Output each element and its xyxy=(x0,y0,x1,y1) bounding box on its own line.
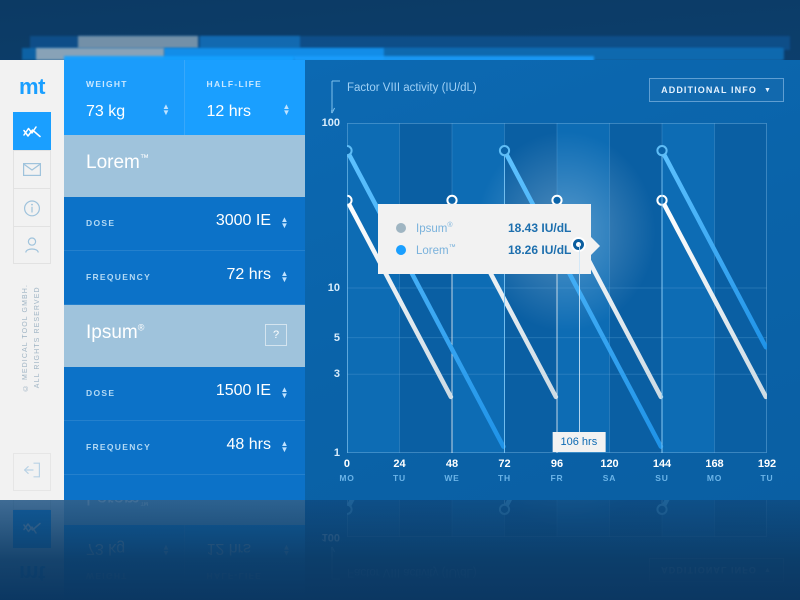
plot-canvas: 10010531 xyxy=(347,500,767,537)
drug-header-lorem[interactable]: Lorem™ xyxy=(64,135,305,197)
y-axis-label: 100 xyxy=(322,531,340,543)
chart-area: Factor VIII activity (IU/dL) ADDITIONAL … xyxy=(305,60,800,500)
x-tick-day: TH xyxy=(498,473,511,483)
x-tick-hours: 96 xyxy=(551,458,564,470)
lorem-dose-stepper[interactable]: ▲▼ xyxy=(280,217,289,230)
lorem-frequency-stepper[interactable]: ▲▼ xyxy=(280,271,289,284)
ipsum-frequency-field[interactable]: FREQUENCY 48 hrs ▲▼ xyxy=(64,421,305,475)
info-icon xyxy=(23,199,41,217)
x-tick-hours: 168 xyxy=(705,458,723,470)
x-tick-day: TU xyxy=(758,473,776,483)
x-tick-day: TU xyxy=(393,473,406,483)
half-life-value: 12 hrs xyxy=(207,103,251,121)
half-life-field[interactable]: HALF-LIFE 12 hrs ▲▼ xyxy=(185,60,306,135)
x-axis-tick: 24TU xyxy=(393,458,406,483)
window-reflection: mt xyxy=(0,500,800,600)
x-axis-tick: 192TU xyxy=(758,458,776,483)
additional-info-button[interactable]: ADDITIONAL INFO ▼ xyxy=(649,78,784,102)
x-axis-ticks: 0MO24TU48WE72TH96FR120SA144SU168MO192TU xyxy=(347,458,767,500)
drug-trademark: ™ xyxy=(140,500,149,507)
dosing-panel: WEIGHT 73 kg ▲▼ HALF-LIFE 12 hrs ▲▼ Lore… xyxy=(64,60,305,500)
tooltip-name-text: Ipsum xyxy=(416,223,447,235)
decor-band xyxy=(164,48,384,60)
y-axis-label: 10 xyxy=(328,282,340,294)
x-tick-day: SA xyxy=(600,473,618,483)
chart-title: Factor VIII activity (IU/dL) xyxy=(347,566,477,578)
drug-name-ipsum: Ipsum® xyxy=(86,322,144,344)
drug-name-lorem: Lorem™ xyxy=(86,500,149,508)
ipsum-frequency-label: FREQUENCY xyxy=(86,442,151,452)
weight-value: 73 kg xyxy=(86,103,125,121)
sidebar-item-messages xyxy=(13,500,51,510)
reflection-fade xyxy=(0,500,800,600)
ipsum-dose-field[interactable]: DOSE 1500 IE ▲▼ xyxy=(64,367,305,421)
app-window: mt xyxy=(0,60,800,500)
sidebar-item-messages[interactable] xyxy=(13,150,51,188)
patient-params-row: WEIGHT 73 kg ▲▼ HALF-LIFE 12 hrs ▲▼ xyxy=(64,60,305,135)
app-logo: mt xyxy=(0,560,64,586)
decor-band xyxy=(36,48,164,60)
chart-tooltip: Ipsum® 18.43 IU/dL Lorem™ 18.26 IU/dL xyxy=(378,204,591,274)
additional-info-label: ADDITIONAL INFO xyxy=(661,85,757,95)
ipsum-frequency-stepper[interactable]: ▲▼ xyxy=(280,441,289,454)
cursor-vertical-line xyxy=(579,244,580,432)
tooltip-value-lorem: 18.26 IU/dL xyxy=(508,243,571,257)
axis-arrow-icon xyxy=(331,546,345,580)
chart-title: Factor VIII activity (IU/dL) xyxy=(347,82,477,94)
decor-band xyxy=(200,36,300,50)
x-tick-day: MO xyxy=(705,473,723,483)
weight-value: 73 kg xyxy=(86,539,125,557)
dosing-panel: WEIGHT 73 kg ▲▼ HALF-LIFE 12 hrs ▲▼ Lore… xyxy=(64,500,305,600)
y-axis-label: 100 xyxy=(322,117,340,129)
tooltip-mark: ® xyxy=(447,222,452,229)
help-button[interactable]: ? xyxy=(265,324,287,346)
weight-label: WEIGHT xyxy=(86,79,128,89)
tooltip-series-name-lorem: Lorem™ xyxy=(416,244,498,257)
x-axis-tick: 72TH xyxy=(498,458,511,483)
drug-name-text: Lorem xyxy=(86,500,140,508)
drug-trademark: ™ xyxy=(140,153,149,163)
x-tick-hours: 144 xyxy=(653,458,671,470)
app-window: mt xyxy=(0,500,800,600)
cursor-time-badge: 106 hrs xyxy=(553,432,606,452)
tooltip-mark: ™ xyxy=(449,244,456,251)
ipsum-dose-value: 1500 IE xyxy=(216,382,271,400)
x-tick-day: WE xyxy=(444,473,459,483)
tooltip-row: Lorem™ 18.26 IU/dL xyxy=(396,239,571,261)
drug-name-text: Lorem xyxy=(86,152,140,173)
x-tick-hours: 120 xyxy=(600,458,618,470)
drug-header-ipsum[interactable]: Ipsum® ? xyxy=(64,305,305,367)
x-tick-hours: 192 xyxy=(758,458,776,470)
plot-canvas[interactable]: 10010531 xyxy=(347,123,767,453)
weight-field[interactable]: WEIGHT 73 kg ▲▼ xyxy=(64,60,185,135)
chevron-down-icon: ▼ xyxy=(764,567,772,574)
decor-band xyxy=(78,36,198,50)
decor-band xyxy=(22,48,782,60)
x-tick-hours: 48 xyxy=(444,458,459,470)
half-life-stepper[interactable]: ▲▼ xyxy=(282,104,291,117)
x-tick-hours: 0 xyxy=(339,458,354,470)
half-life-label: HALF-LIFE xyxy=(207,571,263,581)
patient-params-row: WEIGHT 73 kg ▲▼ HALF-LIFE 12 hrs ▲▼ xyxy=(64,525,305,600)
chart-area: Factor VIII activity (IU/dL) ADDITIONAL … xyxy=(305,500,800,600)
y-axis-label: 3 xyxy=(334,368,340,380)
sidebar-item-info[interactable] xyxy=(13,188,51,226)
drug-name-text: Ipsum xyxy=(86,322,138,343)
x-axis-tick: 120SA xyxy=(600,458,618,483)
sidebar-item-chart[interactable] xyxy=(13,112,51,150)
half-life-label: HALF-LIFE xyxy=(207,79,263,89)
ipsum-dose-label: DOSE xyxy=(86,388,115,398)
drug-header-lorem: Lorem™ xyxy=(64,500,305,525)
x-tick-day: FR xyxy=(551,473,564,483)
lorem-frequency-value: 72 hrs xyxy=(227,266,271,284)
lorem-dose-label: DOSE xyxy=(86,218,115,228)
sidebar-rail: mt xyxy=(0,60,64,500)
tooltip-row: Ipsum® 18.43 IU/dL xyxy=(396,217,571,239)
copyright-text: © MEDICAL TOOL GMBH. ALL RIGHTS RESERVED xyxy=(20,284,44,391)
x-tick-hours: 24 xyxy=(393,458,406,470)
weight-stepper: ▲▼ xyxy=(162,543,171,556)
x-tick-day: SU xyxy=(653,473,671,483)
chart-line-icon xyxy=(23,125,41,139)
lorem-frequency-label: FREQUENCY xyxy=(86,272,151,282)
x-axis-tick: 96FR xyxy=(551,458,564,483)
x-tick-day: MO xyxy=(339,473,354,483)
x-tick-hours: 72 xyxy=(498,458,511,470)
chevron-down-icon: ▼ xyxy=(764,87,772,94)
y-axis-label: 5 xyxy=(334,332,340,344)
chart-line-icon xyxy=(23,522,41,536)
tooltip-beak xyxy=(591,237,600,255)
drug-trademark: ® xyxy=(138,323,145,333)
weight-label: WEIGHT xyxy=(86,571,128,581)
lorem-dose-value: 3000 IE xyxy=(216,212,271,230)
sidebar-nav xyxy=(13,500,51,548)
logout-icon xyxy=(23,462,41,483)
series-dot-ipsum xyxy=(396,223,406,233)
ipsum-frequency-value: 48 hrs xyxy=(227,436,271,454)
ipsum-dose-stepper[interactable]: ▲▼ xyxy=(280,387,289,400)
x-axis-tick: 0MO xyxy=(339,458,354,483)
weight-field: WEIGHT 73 kg ▲▼ xyxy=(64,525,185,600)
lorem-dose-field[interactable]: DOSE 3000 IE ▲▼ xyxy=(64,197,305,251)
half-life-stepper: ▲▼ xyxy=(282,543,291,556)
series-dot-lorem xyxy=(396,245,406,255)
x-axis-tick: 144SU xyxy=(653,458,671,483)
x-axis-tick: 48WE xyxy=(444,458,459,483)
lorem-frequency-field[interactable]: FREQUENCY 72 hrs ▲▼ xyxy=(64,251,305,305)
additional-info-button: ADDITIONAL INFO ▼ xyxy=(649,558,784,582)
axis-arrow-icon xyxy=(331,80,345,114)
drug-name-lorem: Lorem™ xyxy=(86,152,149,174)
decor-band xyxy=(384,48,784,60)
app-logo: mt xyxy=(0,74,64,100)
half-life-field: HALF-LIFE 12 hrs ▲▼ xyxy=(185,525,306,600)
screen: mt xyxy=(0,0,800,600)
tooltip-name-text: Lorem xyxy=(416,245,449,257)
tooltip-series-name-ipsum: Ipsum® xyxy=(416,222,498,235)
decor-band xyxy=(30,36,790,50)
x-axis-tick: 168MO xyxy=(705,458,723,483)
weight-stepper[interactable]: ▲▼ xyxy=(162,104,171,117)
sidebar-item-logout[interactable] xyxy=(13,453,51,491)
sidebar-rail: mt xyxy=(0,500,64,600)
half-life-value: 12 hrs xyxy=(207,539,251,557)
envelope-icon xyxy=(23,163,41,176)
copyright-notice: © MEDICAL TOOL GMBH. ALL RIGHTS RESERVED xyxy=(0,238,64,438)
tooltip-value-ipsum: 18.43 IU/dL xyxy=(508,221,571,235)
additional-info-label: ADDITIONAL INFO xyxy=(661,565,757,575)
sidebar-item-chart xyxy=(13,510,51,548)
